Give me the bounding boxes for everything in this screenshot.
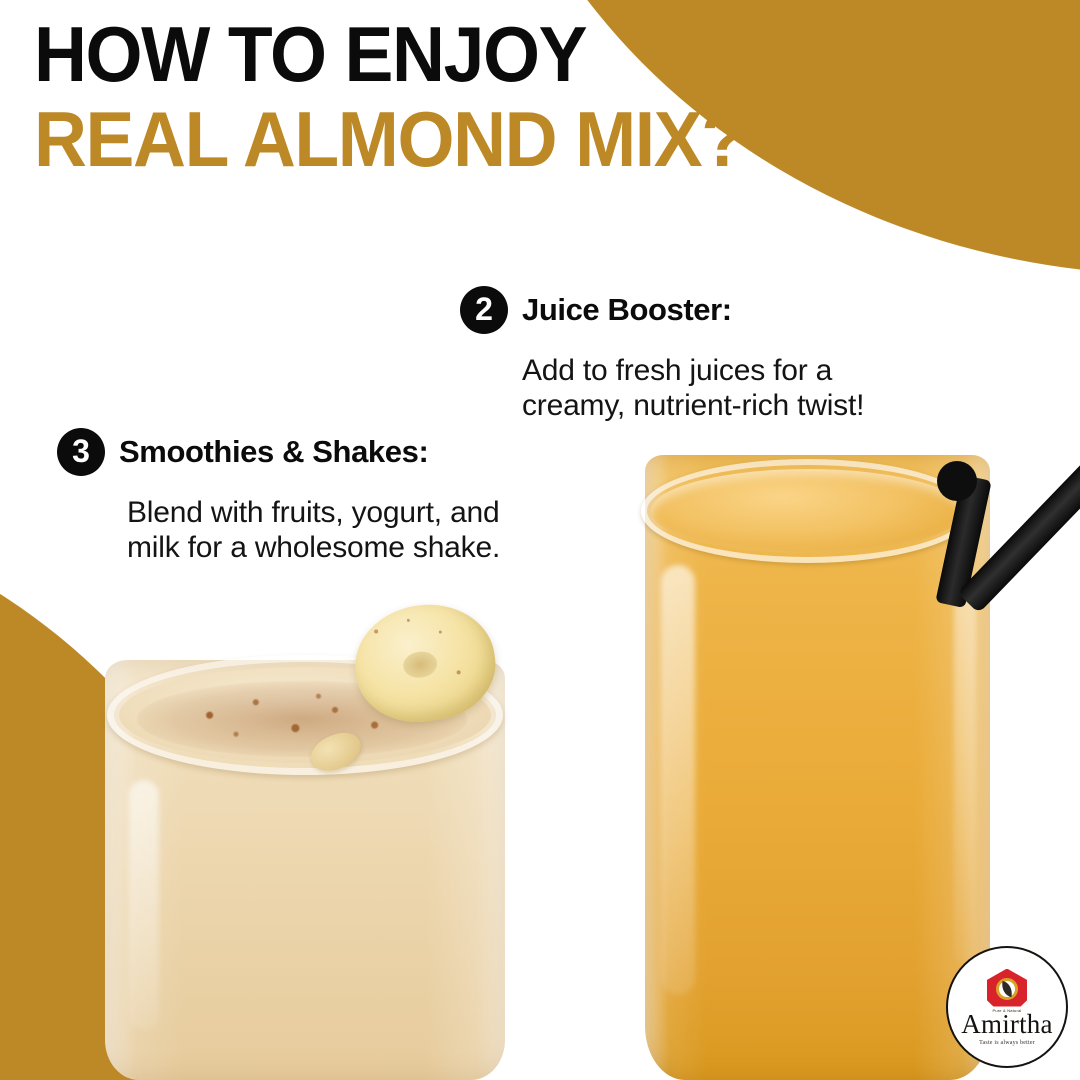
smoothie-glass-image [85, 605, 535, 1080]
house-icon [987, 969, 1027, 1007]
headline-line-2: REAL ALMOND MIX? [34, 103, 936, 176]
poster-canvas: HOW TO ENJOY REAL ALMOND MIX? 2 Juice Bo… [0, 0, 1080, 1080]
juice-glass-image [635, 455, 1000, 1080]
page-title: HOW TO ENJOY REAL ALMOND MIX? [34, 18, 994, 175]
banana-speck [407, 619, 410, 622]
step-juice-booster-header: 2 Juice Booster: [460, 286, 864, 334]
step-number-badge-3: 3 [57, 428, 105, 476]
headline-line-1: HOW TO ENJOY [34, 18, 936, 91]
juice-glass-highlight-left [661, 565, 695, 995]
brand-logo-wordmark: Amirtha [961, 1011, 1052, 1038]
banana-core [402, 649, 439, 679]
smoothie-glass-highlight [129, 780, 159, 1030]
step-smoothies-and-shakes: 3 Smoothies & Shakes: Blend with fruits,… [57, 428, 500, 566]
step-juice-booster: 2 Juice Booster: Add to fresh juices for… [460, 286, 864, 424]
step-juice-booster-body: Add to fresh juices for a creamy, nutrie… [522, 354, 864, 424]
banana-speck [456, 670, 461, 675]
step-smoothies-and-shakes-header: 3 Smoothies & Shakes: [57, 428, 500, 476]
banana-speck [374, 629, 379, 634]
step-number-badge-2: 2 [460, 286, 508, 334]
step-smoothies-and-shakes-title: Smoothies & Shakes: [119, 434, 428, 470]
brand-logo-tagline: Taste is always better [979, 1040, 1035, 1046]
step-juice-booster-title: Juice Booster: [522, 292, 732, 328]
drinking-straw-bend [937, 461, 977, 501]
brand-logo: Pure & Natural Amirtha Taste is always b… [946, 946, 1068, 1068]
juice-glass-rim [641, 459, 974, 563]
juice-glass-highlight-right [954, 585, 976, 965]
step-smoothies-and-shakes-body: Blend with fruits, yogurt, and milk for … [127, 496, 500, 566]
banana-speck [439, 630, 442, 633]
